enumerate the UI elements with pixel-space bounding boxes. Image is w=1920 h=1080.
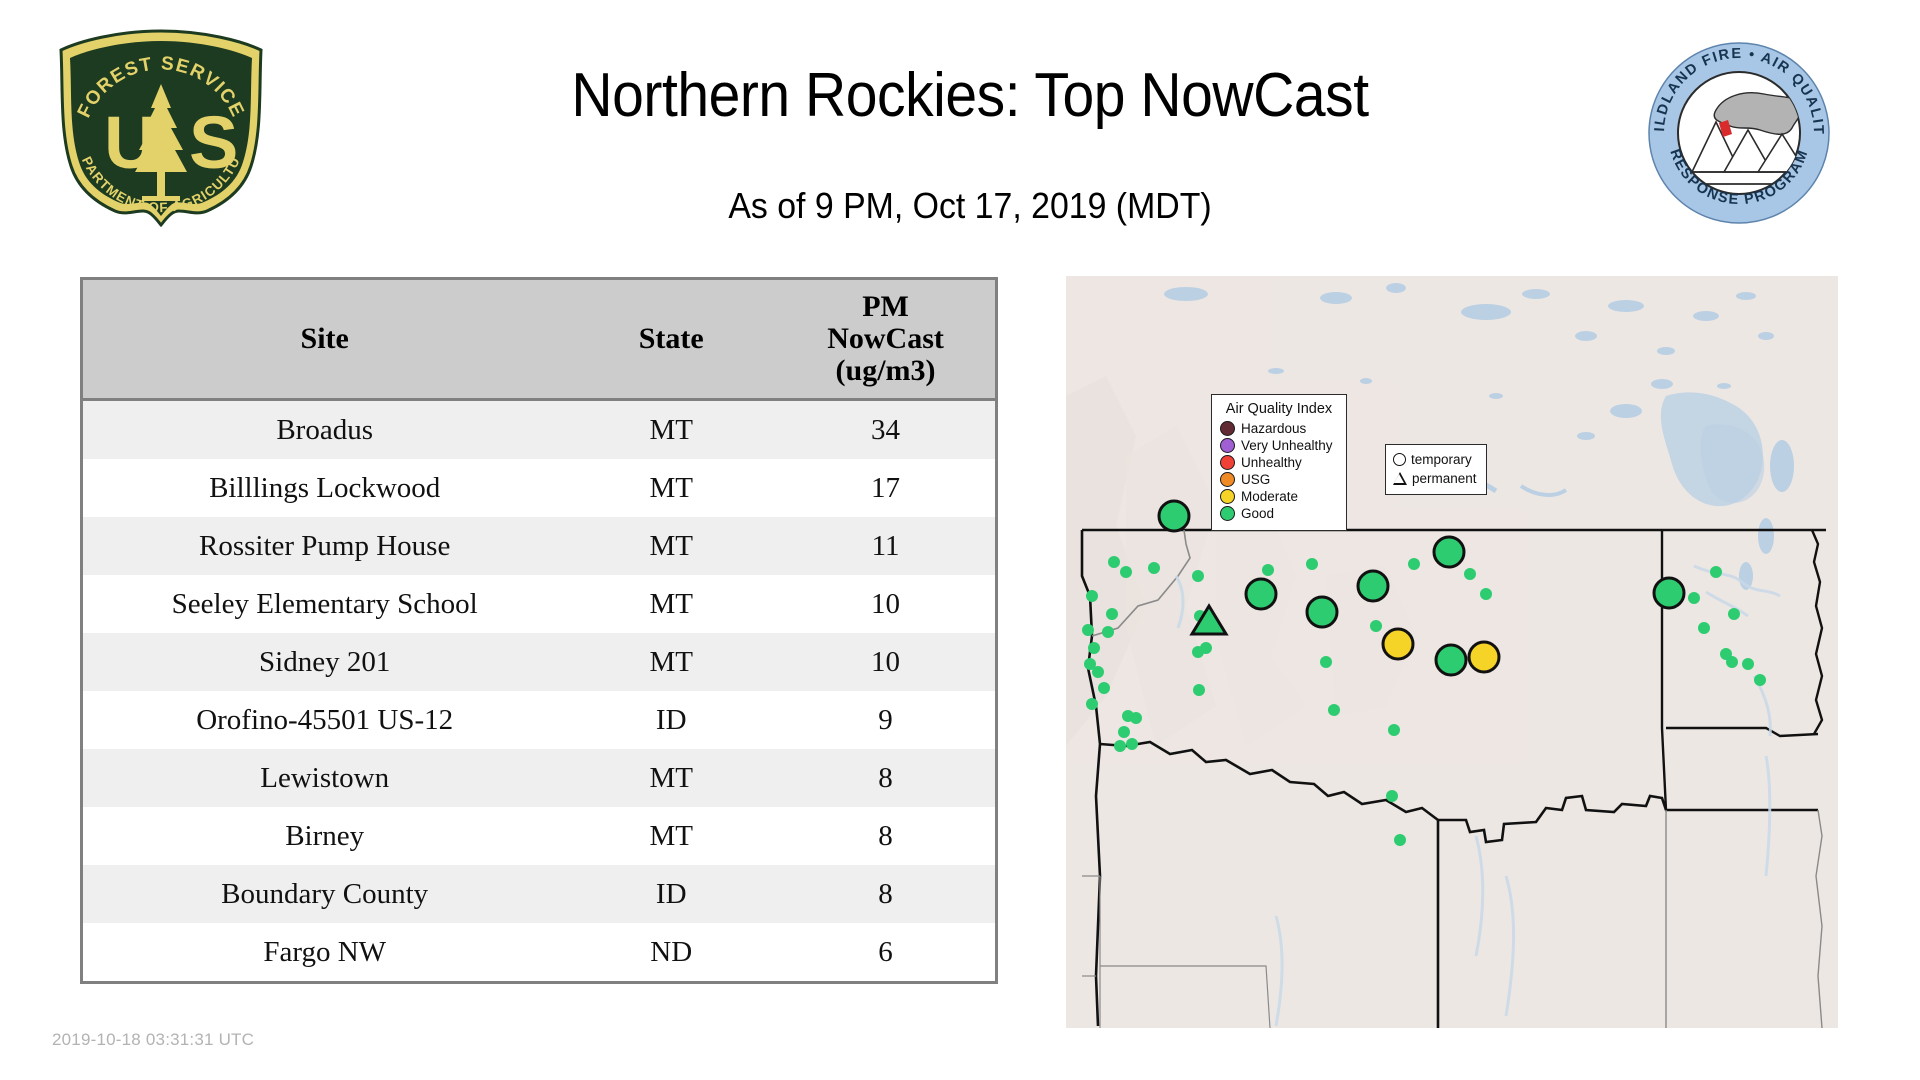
pm-nowcast-cell: 10 <box>776 575 995 633</box>
aqi-legend-row: Hazardous <box>1220 420 1338 437</box>
aqi-legend-row: Very Unhealthy <box>1220 437 1338 454</box>
site-cell: Sidney 201 <box>83 633 566 691</box>
monitor-type-legend: temporary permanent <box>1385 444 1487 495</box>
aqi-swatch-icon <box>1220 489 1235 504</box>
monitor-marker-good <box>1436 645 1466 675</box>
legend-label-temporary: temporary <box>1411 452 1472 467</box>
monitor-marker-good <box>1654 578 1684 608</box>
top-nowcast-table: Site State PM NowCast (ug/m3) BroadusMT3… <box>80 277 998 984</box>
aqi-legend-label: Hazardous <box>1241 421 1306 436</box>
legend-row-permanent: permanent <box>1393 469 1477 488</box>
table-row: Fargo NWND6 <box>83 923 995 981</box>
table-row: Rossiter Pump HouseMT11 <box>83 517 995 575</box>
site-cell: Boundary County <box>83 865 566 923</box>
page-subtitle: As of 9 PM, Oct 17, 2019 (MDT) <box>340 185 1600 227</box>
site-cell: Broadus <box>83 400 566 460</box>
legend-label-permanent: permanent <box>1412 471 1477 486</box>
state-cell: MT <box>566 807 776 865</box>
pm-nowcast-cell: 34 <box>776 400 995 460</box>
legend-row-temporary: temporary <box>1393 450 1477 469</box>
aqi-swatch-icon <box>1220 472 1235 487</box>
column-header-pm-line2: NowCast <box>776 323 995 355</box>
aqi-swatch-icon <box>1220 421 1235 436</box>
pm-nowcast-cell: 8 <box>776 749 995 807</box>
table-body: BroadusMT34Billlings LockwoodMT17Rossite… <box>83 400 995 982</box>
monitor-marker-good <box>1246 579 1276 609</box>
state-cell: MT <box>566 749 776 807</box>
pm-nowcast-cell: 8 <box>776 807 995 865</box>
column-header-pm-line3: (ug/m3) <box>776 355 995 387</box>
usda-forest-service-shield-logo: FOREST SERVICE DEPARTMENT OF AGRICULTURE… <box>52 28 270 228</box>
column-header-pm-nowcast: PM NowCast (ug/m3) <box>776 280 995 400</box>
slide-root: FOREST SERVICE DEPARTMENT OF AGRICULTURE… <box>0 0 1920 1080</box>
aqi-legend-label: Good <box>1241 506 1274 521</box>
map-canvas[interactable] <box>1066 276 1838 1028</box>
aqi-swatch-icon <box>1220 438 1235 453</box>
site-cell: Fargo NW <box>83 923 566 981</box>
site-cell: Orofino-45501 US-12 <box>83 691 566 749</box>
monitor-marker-good <box>1358 571 1388 601</box>
table-row: Seeley Elementary SchoolMT10 <box>83 575 995 633</box>
table-row: Billlings LockwoodMT17 <box>83 459 995 517</box>
state-cell: ID <box>566 865 776 923</box>
state-cell: MT <box>566 400 776 460</box>
air-quality-monitor-map[interactable] <box>1066 276 1838 1028</box>
column-header-site: Site <box>83 280 566 400</box>
state-cell: MT <box>566 459 776 517</box>
monitor-marker-moderate <box>1469 642 1499 672</box>
pm-nowcast-cell: 9 <box>776 691 995 749</box>
state-cell: MT <box>566 517 776 575</box>
pm-nowcast-cell: 6 <box>776 923 995 981</box>
state-cell: ND <box>566 923 776 981</box>
site-cell: Seeley Elementary School <box>83 575 566 633</box>
aqi-legend-title: Air Quality Index <box>1220 401 1338 417</box>
table-row: BirneyMT8 <box>83 807 995 865</box>
table-row: BroadusMT34 <box>83 400 995 460</box>
column-header-pm-line1: PM <box>776 291 995 323</box>
aqi-legend: Air Quality Index HazardousVery Unhealth… <box>1211 394 1347 531</box>
table-row: Orofino-45501 US-12ID9 <box>83 691 995 749</box>
temporary-monitor-icon <box>1393 453 1406 466</box>
aqi-legend-row: Moderate <box>1220 488 1338 505</box>
pm-nowcast-cell: 11 <box>776 517 995 575</box>
generated-timestamp: 2019-10-18 03:31:31 UTC <box>52 1030 254 1050</box>
site-cell: Lewistown <box>83 749 566 807</box>
wfaqrp-seal-icon: WILDLAND FIRE • AIR QUALITY RESPONSE PRO… <box>1644 38 1834 228</box>
aqi-legend-label: Moderate <box>1241 489 1298 504</box>
aqi-legend-row: Unhealthy <box>1220 454 1338 471</box>
column-header-state: State <box>566 280 776 400</box>
state-cell: MT <box>566 633 776 691</box>
site-cell: Rossiter Pump House <box>83 517 566 575</box>
aqi-legend-label: Very Unhealthy <box>1241 438 1333 453</box>
svg-text:S: S <box>189 101 238 184</box>
aqi-swatch-icon <box>1220 455 1235 470</box>
monitor-marker-good <box>1434 537 1464 567</box>
site-cell: Birney <box>83 807 566 865</box>
pm-nowcast-cell: 10 <box>776 633 995 691</box>
permanent-monitor-icon <box>1393 472 1407 485</box>
state-cell: ID <box>566 691 776 749</box>
aqi-legend-row: Good <box>1220 505 1338 522</box>
state-cell: MT <box>566 575 776 633</box>
site-cell: Billlings Lockwood <box>83 459 566 517</box>
aqi-legend-label: USG <box>1241 472 1270 487</box>
table-row: LewistownMT8 <box>83 749 995 807</box>
aqi-swatch-icon <box>1220 506 1235 521</box>
table-row: Boundary CountyID8 <box>83 865 995 923</box>
page-title: Northern Rockies: Top NowCast <box>354 60 1587 131</box>
monitor-marker-good <box>1307 597 1337 627</box>
aqi-legend-label: Unhealthy <box>1241 455 1302 470</box>
table-header-row: Site State PM NowCast (ug/m3) <box>83 280 995 400</box>
wildland-fire-air-quality-seal-logo: WILDLAND FIRE • AIR QUALITY RESPONSE PRO… <box>1644 38 1834 228</box>
pm-nowcast-cell: 8 <box>776 865 995 923</box>
monitor-marker-moderate <box>1383 629 1413 659</box>
forest-service-shield-icon: FOREST SERVICE DEPARTMENT OF AGRICULTURE… <box>52 28 270 228</box>
aqi-legend-row: USG <box>1220 471 1338 488</box>
pm-nowcast-cell: 17 <box>776 459 995 517</box>
table-row: Sidney 201MT10 <box>83 633 995 691</box>
monitor-marker-good <box>1159 501 1189 531</box>
